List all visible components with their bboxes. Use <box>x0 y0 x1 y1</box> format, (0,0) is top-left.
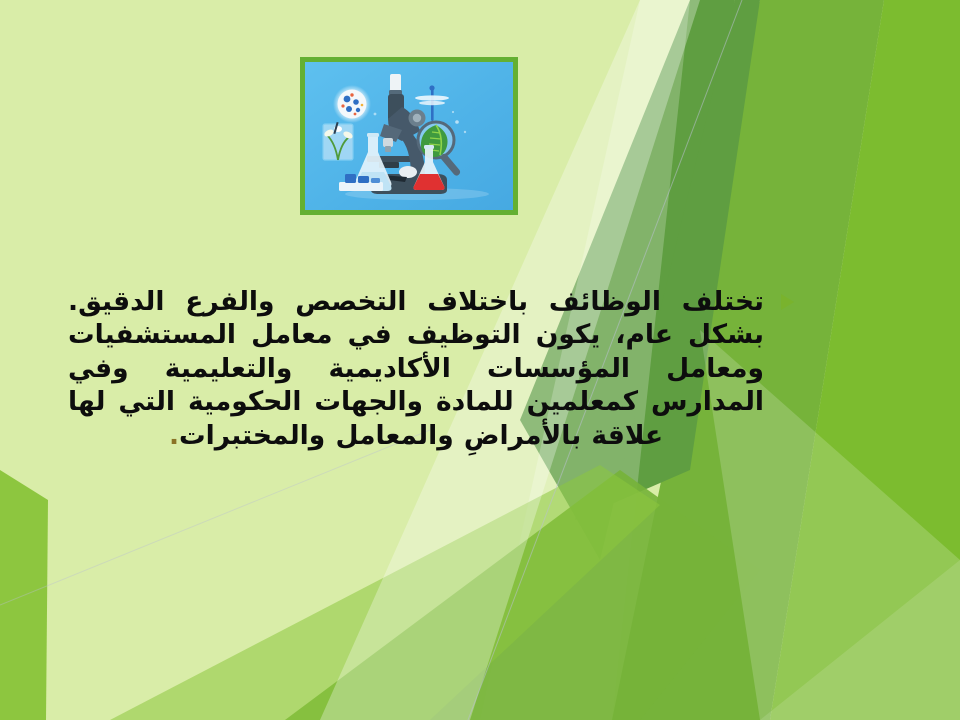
petri-dish-icon <box>333 85 371 123</box>
bubble-2 <box>464 131 466 133</box>
bubble-1 <box>455 120 459 124</box>
bubble-3 <box>452 111 454 113</box>
bubble-4 <box>374 113 377 116</box>
laboratory-microscope-image <box>300 57 518 215</box>
paragraph-period: . <box>169 420 179 451</box>
body-content-block: تختلف الوظائف باختلاف التخصص والفرع الدق… <box>60 258 780 479</box>
bullet-paragraph: تختلف الوظائف باختلاف التخصص والفرع الدق… <box>60 285 780 453</box>
microscope-illustration <box>305 62 513 210</box>
triangle-right-icon <box>781 294 794 310</box>
bullet-list-item: تختلف الوظائف باختلاف التخصص والفرع الدق… <box>60 285 780 453</box>
presentation-slide: تختلف الوظائف باختلاف التخصص والفرع الدق… <box>0 0 960 720</box>
specimen-card-icon <box>323 122 354 160</box>
